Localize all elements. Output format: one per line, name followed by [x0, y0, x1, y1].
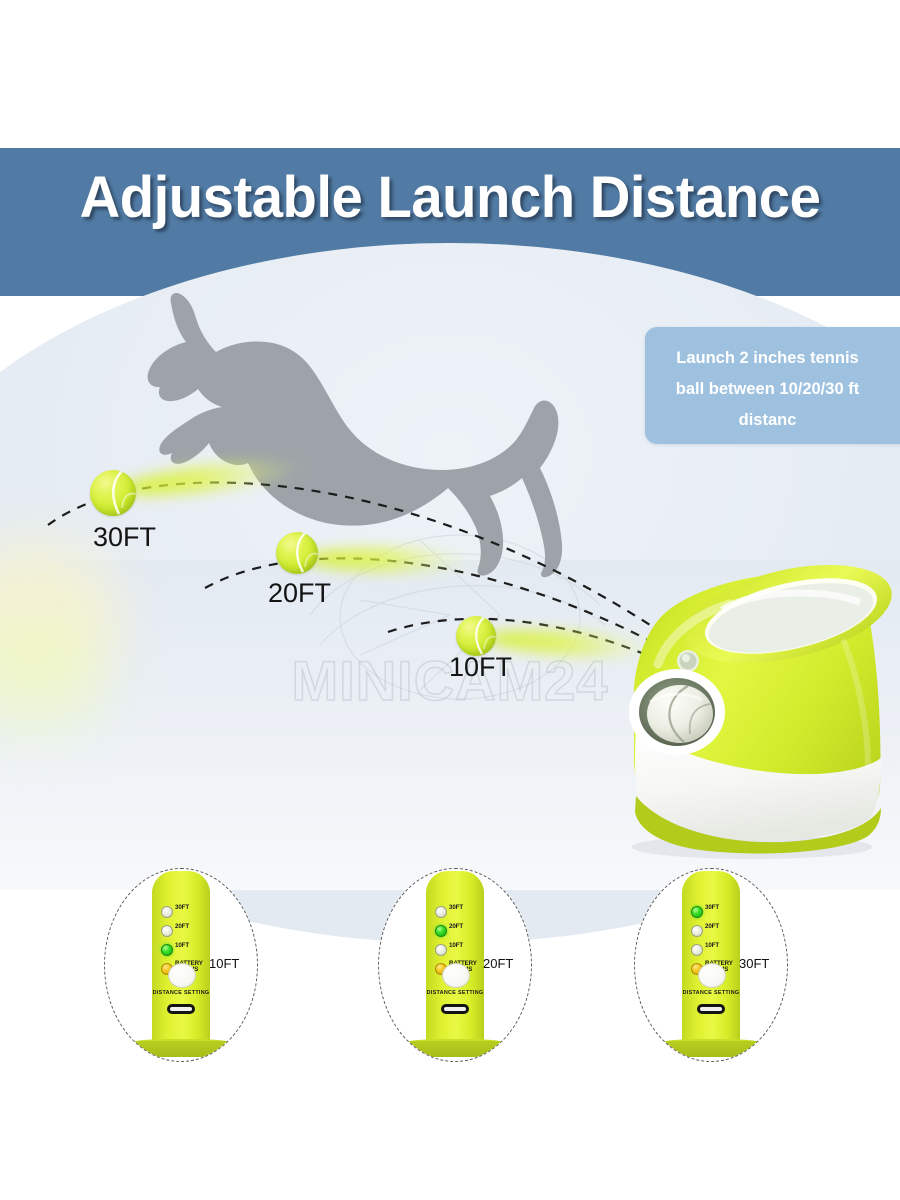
led-row-30ft: 30FT [691, 905, 741, 918]
callout-line-2: ball between 10/20/30 ft [645, 374, 890, 405]
callout-text: Launch 2 inches tennis ball between 10/2… [645, 343, 890, 436]
led-20ft-indicator [435, 925, 447, 937]
led-30ft-indicator [161, 906, 173, 918]
product-infographic: Adjustable Launch Distance MINICAM24 [0, 0, 900, 1200]
detail-circle-10ft[interactable]: 30FT 20FT 10FT BATTERY STATUS DISTANCE S… [104, 868, 258, 1062]
distance-setting-button[interactable] [442, 963, 470, 988]
led-20ft-indicator [161, 925, 173, 937]
ball-seam [90, 470, 136, 516]
panel-base [135, 1041, 227, 1057]
ball-seam [276, 532, 318, 574]
led-row-10ft: 10FT [435, 943, 485, 956]
led-10ft-label: 10FT [175, 943, 189, 950]
led-10ft-indicator [435, 944, 447, 956]
page-title: Adjustable Launch Distance [14, 163, 887, 233]
distance-setting-caption: DISTANCE SETTING [426, 990, 484, 996]
scene-label-30ft: 30FT [93, 522, 156, 553]
led-row-10ft: 10FT [161, 943, 211, 956]
scene-label-20ft: 20FT [268, 578, 331, 609]
panel-base [409, 1041, 501, 1057]
tennis-ball-10ft [456, 616, 496, 656]
detail-circles-row: 30FT 20FT 10FT BATTERY STATUS DISTANCE S… [0, 868, 900, 1068]
callout-box: Launch 2 inches tennis ball between 10/2… [645, 327, 900, 444]
callout-line-1: Launch 2 inches tennis [645, 343, 890, 374]
led-row-20ft: 20FT [161, 924, 211, 937]
tennis-ball-20ft [276, 532, 318, 574]
detail-circle-label-10ft: 10FT [209, 956, 239, 971]
led-30ft-indicator [435, 906, 447, 918]
led-10ft-indicator [691, 944, 703, 956]
tennis-ball-30ft [90, 470, 136, 516]
led-30ft-label: 30FT [175, 905, 189, 912]
led-20ft-label: 20FT [705, 924, 719, 931]
led-20ft-indicator [691, 925, 703, 937]
ball-launcher-device [592, 552, 900, 864]
detail-circle-label-30ft: 30FT [739, 956, 769, 971]
led-row-30ft: 30FT [435, 905, 485, 918]
callout-line-3: distanc [645, 405, 890, 436]
control-panel: 30FT 20FT 10FT BATTERY STATUS DISTANCE S… [152, 871, 210, 1051]
ball-seam [456, 616, 496, 656]
led-row-20ft: 20FT [435, 924, 485, 937]
led-row-20ft: 20FT [691, 924, 741, 937]
control-panel: 30FT 20FT 10FT BATTERY STATUS DISTANCE S… [426, 871, 484, 1051]
led-row-30ft: 30FT [161, 905, 211, 918]
scene-label-10ft: 10FT [449, 652, 512, 683]
panel-base [665, 1041, 757, 1057]
led-20ft-label: 20FT [449, 924, 463, 931]
led-30ft-indicator [691, 906, 703, 918]
distance-setting-button[interactable] [698, 963, 726, 988]
led-30ft-label: 30FT [705, 905, 719, 912]
led-10ft-label: 10FT [705, 943, 719, 950]
distance-setting-caption: DISTANCE SETTING [152, 990, 210, 996]
detail-circle-20ft[interactable]: 30FT 20FT 10FT BATTERY STATUS DISTANCE S… [378, 868, 532, 1062]
usb-c-port-icon [441, 1004, 469, 1014]
led-30ft-label: 30FT [449, 905, 463, 912]
usb-c-port-icon [167, 1004, 195, 1014]
distance-setting-caption: DISTANCE SETTING [682, 990, 740, 996]
led-10ft-label: 10FT [449, 943, 463, 950]
control-panel: 30FT 20FT 10FT BATTERY STATUS DISTANCE S… [682, 871, 740, 1051]
led-row-10ft: 10FT [691, 943, 741, 956]
usb-c-port-icon [697, 1004, 725, 1014]
detail-circle-label-20ft: 20FT [483, 956, 513, 971]
led-20ft-label: 20FT [175, 924, 189, 931]
led-10ft-indicator [161, 944, 173, 956]
detail-circle-30ft[interactable]: 30FT 20FT 10FT BATTERY STATUS DISTANCE S… [634, 868, 788, 1062]
distance-setting-button[interactable] [168, 963, 196, 988]
